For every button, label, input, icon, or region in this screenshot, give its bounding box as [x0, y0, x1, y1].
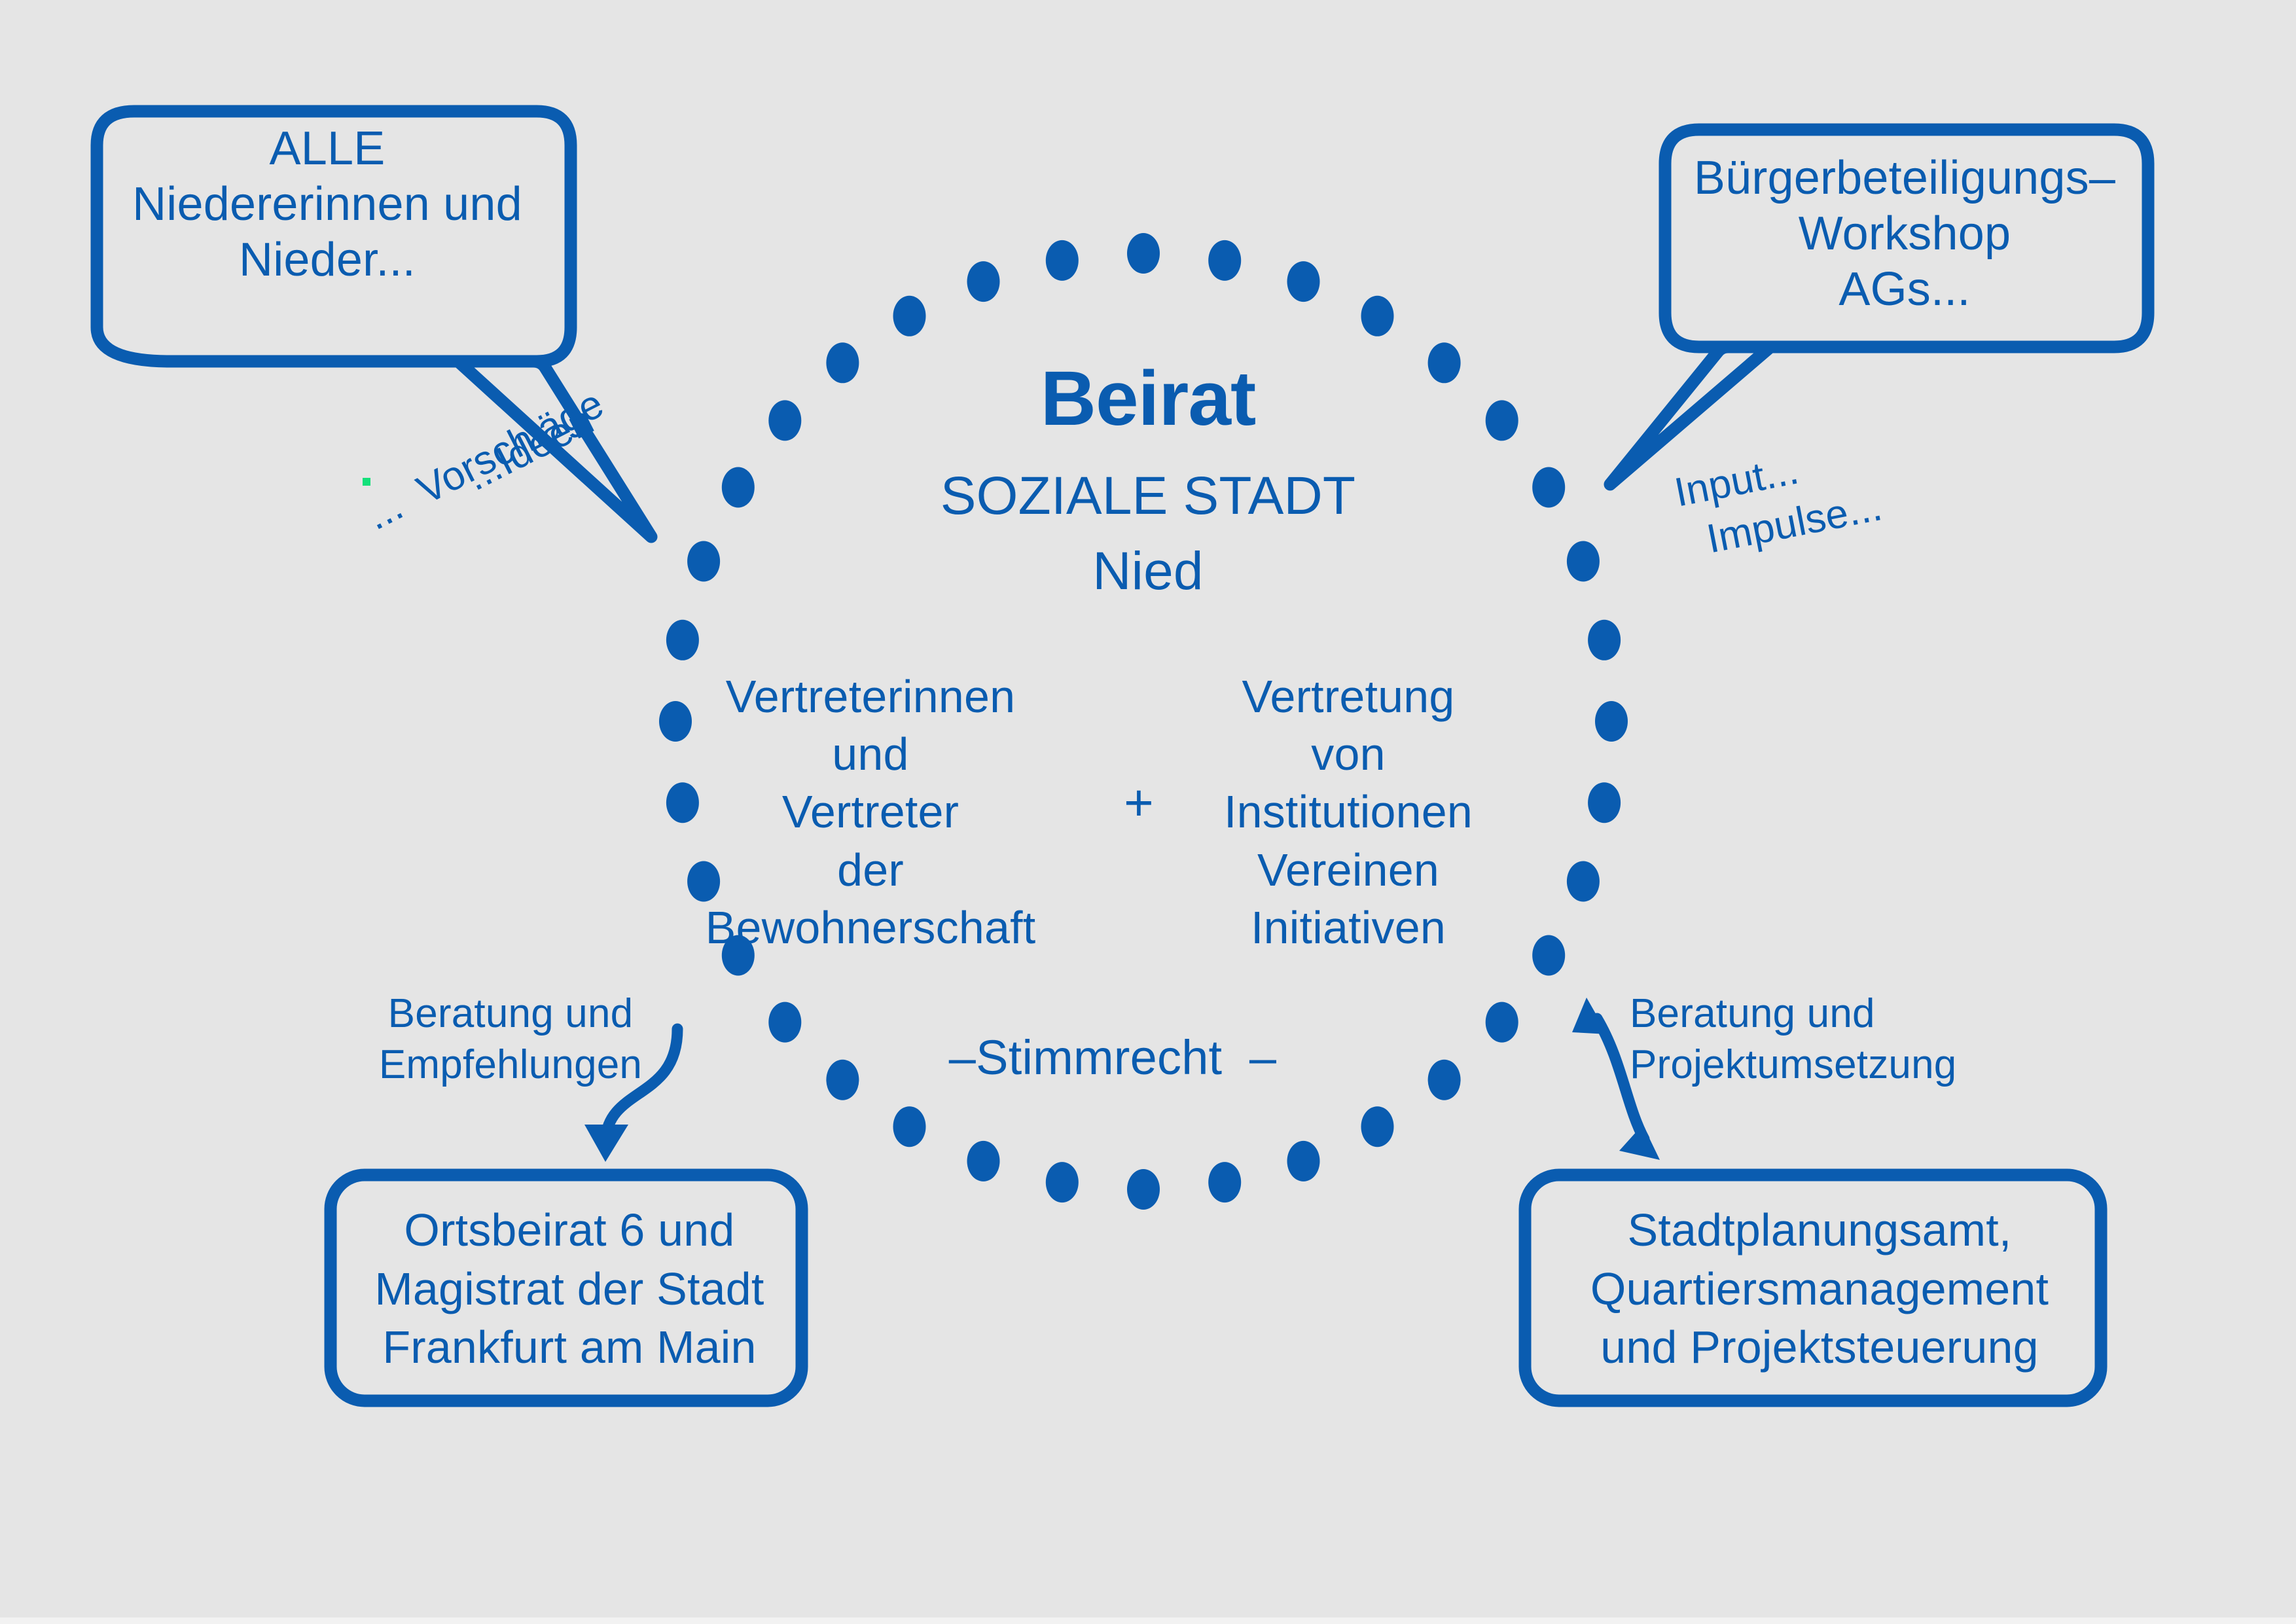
ring-dot — [1486, 1002, 1518, 1043]
plus-symbol: + — [1073, 772, 1204, 833]
center-subtitle-line1: SOZIALE STADT — [853, 465, 1443, 528]
ring-dot — [1361, 1106, 1394, 1147]
ring-dot — [659, 701, 692, 742]
ring-dot — [1046, 240, 1079, 281]
green-pixel-artifact — [363, 478, 370, 486]
ring-dot — [687, 541, 720, 582]
annotation-beratung-empfehlungen: Beratung und Empfehlungen — [340, 988, 681, 1091]
box-bottom-right-label: Stadtplanungsamt, Quartiersmanagement un… — [1525, 1201, 2114, 1377]
ring-dot — [1428, 342, 1461, 383]
diagram-canvas: ALLE Niedererinnen und Nieder... Bürgerb… — [0, 0, 2296, 1624]
ring-dot — [826, 342, 859, 383]
ring-dot — [1428, 1060, 1461, 1100]
ring-dot — [1208, 240, 1241, 281]
ring-dot — [1595, 701, 1628, 742]
ring-dot — [666, 620, 699, 660]
box-bottom-left-label: Ortsbeirat 6 und Magistrat der Stadt Fra… — [327, 1201, 812, 1377]
ring-dot — [893, 296, 926, 336]
ring-dot — [1567, 541, 1600, 582]
ring-dot — [1046, 1162, 1079, 1202]
ring-dot — [1532, 935, 1565, 976]
ring-dot — [1588, 620, 1621, 660]
ring-dot — [722, 467, 755, 508]
center-subtitle-line2: Nied — [886, 540, 1410, 604]
ring-dot — [1287, 1141, 1320, 1182]
stimmrecht-note: –Stimmrecht – — [916, 1029, 1309, 1086]
ring-dot — [826, 1060, 859, 1100]
center-column-right: Vertretung von Institutionen Vereinen In… — [1204, 668, 1492, 956]
ring-dot — [967, 1141, 1000, 1182]
bottom-edge-strip — [0, 1617, 2296, 1624]
speech-bubble-top-right-label: Bürgerbeteiligungs– Workshop AGs... — [1676, 151, 2134, 317]
ring-dot — [967, 261, 1000, 302]
ring-dot — [1567, 861, 1600, 902]
center-column-left: Vertreterinnen und Vertreter der Bewohne… — [694, 668, 1047, 956]
ring-dot — [768, 1002, 801, 1043]
ring-dot — [1361, 296, 1394, 336]
ring-dot — [1208, 1162, 1241, 1202]
speech-bubble-top-left-label: ALLE Niedererinnen und Nieder... — [98, 121, 556, 288]
page-title: Beirat — [886, 353, 1410, 444]
ring-dot — [1532, 467, 1565, 508]
ring-dot — [1486, 400, 1518, 441]
ring-dot — [768, 400, 801, 441]
ring-dot — [1127, 233, 1160, 274]
ring-dot — [1127, 1169, 1160, 1210]
ring-dot — [1287, 261, 1320, 302]
ring-dot — [1588, 782, 1621, 823]
annotation-beratung-projektumsetzung: Beratung und Projektumsetzung — [1630, 988, 1996, 1091]
ring-dot — [893, 1106, 926, 1147]
